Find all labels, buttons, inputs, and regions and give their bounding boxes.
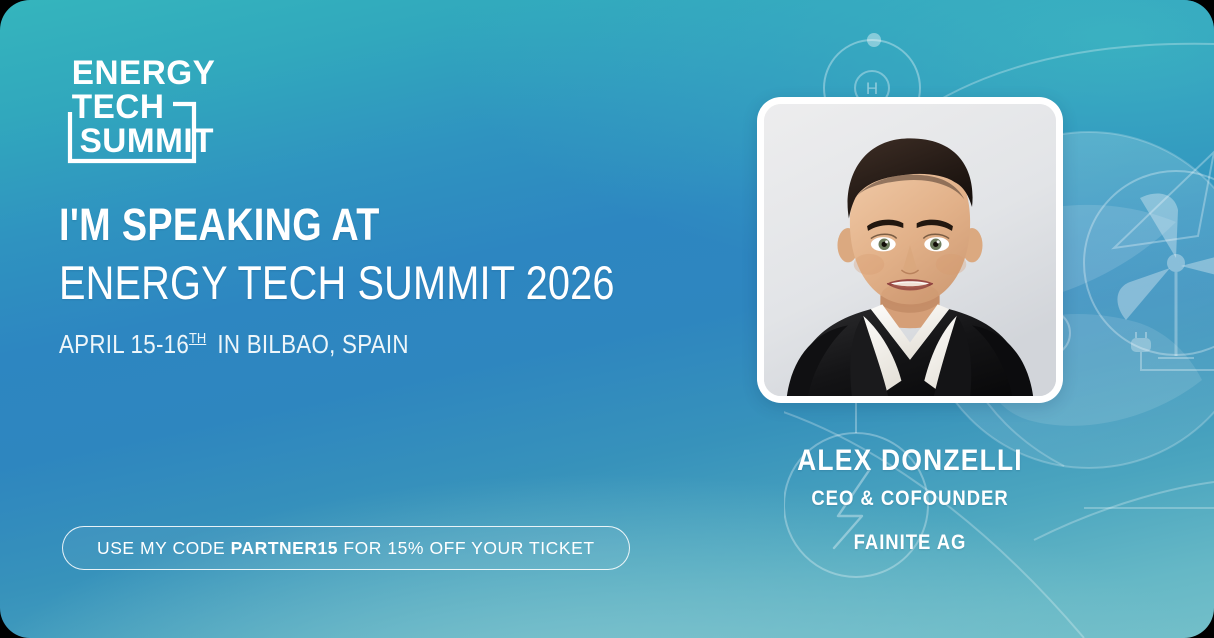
logo-line-summit: SUMMIT [80, 123, 214, 160]
promo-banner-canvas: H [0, 0, 1214, 638]
promo-prefix: USE MY CODE [97, 538, 231, 558]
speaker-name: ALEX DONZELLI [760, 443, 1059, 479]
svg-text:H: H [866, 79, 878, 98]
date-prefix: APRIL 15-16 [59, 329, 189, 359]
event-date-location: APRIL 15-16THIN BILBAO, SPAIN [59, 322, 625, 361]
promo-suffix: FOR 15% OFF YOUR TICKET [338, 538, 595, 558]
speaker-role: CEO & COFOUNDER [760, 485, 1059, 512]
promo-code-pill[interactable]: USE MY CODE PARTNER15 FOR 15% OFF YOUR T… [62, 526, 630, 570]
promo-code: PARTNER15 [231, 538, 338, 558]
promo-code-text: USE MY CODE PARTNER15 FOR 15% OFF YOUR T… [97, 538, 595, 559]
speaker-company: FAINITE AG [760, 529, 1059, 556]
date-ordinal: TH [189, 330, 206, 347]
headline-line-1: I'M SPEAKING AT [59, 198, 611, 252]
energy-tech-summit-logo: ENERGY TECH SUMMIT [60, 52, 260, 167]
wind-turbine-icon [1084, 171, 1214, 358]
logo-line-tech: TECH [72, 89, 165, 126]
speaker-photo-frame [757, 97, 1063, 403]
logo-line-energy: ENERGY [72, 55, 216, 92]
headline-block: I'M SPEAKING AT ENERGY TECH SUMMIT 2026 … [59, 198, 717, 361]
speaker-portrait-illustration [764, 104, 1056, 396]
speaker-photo [764, 104, 1056, 396]
triangle-shard-icon [1114, 152, 1214, 248]
plug-icon [1131, 332, 1214, 370]
speaker-info-block: ALEX DONZELLI CEO & COFOUNDER FAINITE AG [740, 443, 1080, 556]
headline-line-2: ENERGY TECH SUMMIT 2026 [59, 254, 615, 312]
date-suffix: IN BILBAO, SPAIN [217, 329, 408, 359]
